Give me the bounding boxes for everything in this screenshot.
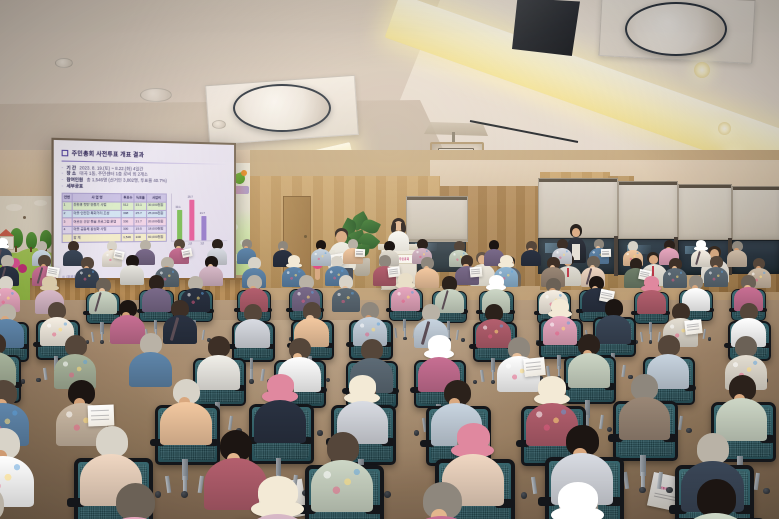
attendee: [715, 375, 769, 439]
chair-leg: [754, 473, 760, 491]
audience-seating: [0, 232, 779, 519]
attendee-hat: [551, 299, 569, 313]
chair-caster: [666, 487, 673, 494]
attendee-handout[interactable]: [355, 248, 365, 257]
attendee: [677, 479, 755, 519]
table-row: 2 마을 안전한 특화거리 조성 398 25.7 25,000천원: [62, 210, 166, 218]
ceiling-speaker: [512, 0, 580, 56]
attendee-hat: [500, 255, 513, 265]
chair-leg: [623, 472, 629, 490]
chair-caster: [36, 378, 41, 383]
attendee-head: [697, 479, 736, 516]
attendee-torso: [404, 516, 479, 519]
ac-diffuser: [625, 2, 727, 56]
attendee-head: [735, 336, 757, 357]
chair-caster: [763, 488, 770, 495]
attendee-torso: [678, 513, 753, 519]
attendee-head: [631, 374, 658, 400]
attendee-torso: [727, 250, 747, 267]
attendee-hat: [42, 276, 57, 288]
attendee-head: [327, 432, 359, 463]
attendee-head: [605, 299, 623, 316]
chair-leg: [678, 415, 683, 430]
table-row: 1 친환경 텃밭 만들기 사업 512 33.1 30,000천원: [62, 202, 166, 210]
chair-caster: [326, 378, 331, 383]
attendee: [95, 483, 173, 519]
attendee: [239, 480, 317, 519]
attendee-hat: [558, 482, 598, 513]
bullet-square-icon: [62, 150, 69, 157]
chair-leg: [656, 472, 662, 490]
attendee-hat: [538, 376, 565, 397]
chair-leg: [702, 329, 705, 339]
mural-cloud: [34, 200, 47, 206]
attendee-hat: [398, 273, 413, 285]
slide-bullet: - 세부공표: [62, 183, 228, 191]
attendee-hat: [0, 238, 8, 246]
attendee-hat: [696, 240, 707, 248]
chair-leg: [640, 332, 643, 342]
chair-caster: [403, 337, 407, 341]
chair-leg: [394, 328, 397, 338]
attendee-torso: [619, 397, 670, 440]
slide-title: 주민총회 사전투표 개표 결과: [62, 149, 228, 161]
chair-leg: [228, 416, 233, 431]
attendee: [310, 432, 375, 510]
chair-leg: [43, 367, 47, 379]
ac-diffuser: [233, 84, 331, 132]
attendee-head: [0, 485, 4, 519]
attendee-handout[interactable]: [523, 357, 546, 377]
chair-leg: [531, 477, 537, 495]
sprinkler-head: [55, 58, 73, 68]
chair-caster: [100, 340, 104, 344]
chair-caster: [181, 491, 188, 498]
attendee-hat: [428, 335, 450, 353]
downlight: [694, 62, 710, 78]
attendee: [617, 374, 671, 438]
attendee-pattern: [58, 357, 92, 381]
attendee-handout[interactable]: [469, 266, 482, 277]
attendee-pattern: [316, 465, 367, 501]
attendee-head: [0, 333, 6, 354]
attendee-handout[interactable]: [181, 248, 192, 258]
attendee-torso: [521, 250, 541, 267]
downlight: [718, 122, 731, 135]
chart-bar-value: 21.7: [195, 212, 209, 215]
attendee-head: [116, 483, 155, 519]
slide-title-rule: [62, 160, 228, 164]
attendee: [0, 485, 23, 519]
attendee: [403, 482, 481, 519]
sprinkler-head: [140, 88, 172, 102]
chart-bar-value: 25.7: [183, 196, 197, 199]
chair-caster: [708, 337, 712, 341]
chair-caster: [414, 430, 420, 436]
chart-bar-value: 33.1: [171, 206, 185, 209]
attendee-torso: [120, 265, 144, 285]
chair-caster: [521, 492, 528, 499]
attendee-hat: [267, 374, 294, 395]
meeting-room-photo: 주민총회 사전투표 개표 결과 - 기 간 2023. 8. 19.(토) ~ …: [0, 0, 779, 519]
attendee-handout[interactable]: [684, 319, 703, 335]
attendee-hat: [258, 476, 298, 507]
attendee-hat: [457, 423, 490, 449]
chair-caster: [639, 487, 646, 494]
attendee-head: [96, 426, 128, 457]
mural-cloud: [6, 204, 22, 211]
chair-caster: [384, 491, 391, 498]
attendee-torso: [637, 290, 665, 314]
chair-caster: [491, 380, 496, 385]
attendee-hat: [349, 375, 376, 396]
projector-mount-plate: [424, 122, 488, 136]
attendee: [521, 241, 542, 266]
mural-bird: [23, 216, 26, 219]
attendee: [727, 241, 748, 266]
attendee-head: [697, 433, 729, 464]
attendee: [539, 487, 617, 519]
attendee-hat: [288, 255, 301, 265]
attendee-head: [140, 333, 162, 354]
attendee: [0, 333, 16, 386]
attendee-head: [361, 339, 383, 360]
attendee-hat: [489, 275, 504, 287]
attendee-handout[interactable]: [87, 405, 113, 427]
attendee-pattern: [356, 320, 384, 340]
attendee-torso: [240, 514, 315, 519]
attendee-hat: [644, 276, 659, 288]
chair-caster: [461, 338, 465, 342]
attendee-head: [208, 336, 230, 357]
sprinkler-head: [212, 120, 226, 129]
